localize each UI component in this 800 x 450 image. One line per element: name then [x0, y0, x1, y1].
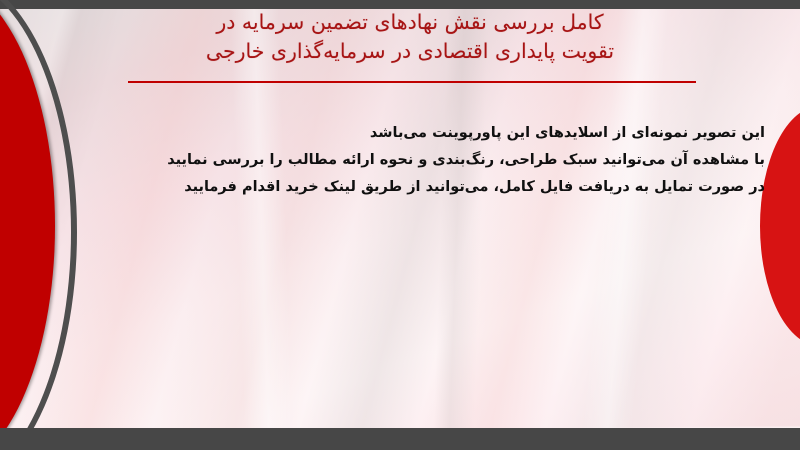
dark-bottom-band: [0, 428, 800, 450]
body-line-3: در صورت تمایل به دریافت فایل کامل، می‌تو…: [65, 174, 765, 201]
slide-body-text: این تصویر نمونه‌ای از اسلایدهای این پاور…: [65, 120, 765, 200]
slide-title: کامل بررسی نقش نهادهای تضمین سرمایه در ت…: [100, 8, 720, 66]
body-line-1: این تصویر نمونه‌ای از اسلایدهای این پاور…: [65, 120, 765, 147]
title-line-1: کامل بررسی نقش نهادهای تضمین سرمایه در: [100, 8, 720, 37]
body-line-2: با مشاهده آن می‌توانید سبک طراحی، رنگ‌بن…: [65, 147, 765, 174]
slide-canvas: کامل بررسی نقش نهادهای تضمین سرمایه در ت…: [0, 0, 800, 450]
title-line-2: تقویت پایداری اقتصادی در سرمایه‌گذاری خا…: [100, 37, 720, 66]
red-underline-rule: [128, 81, 696, 83]
